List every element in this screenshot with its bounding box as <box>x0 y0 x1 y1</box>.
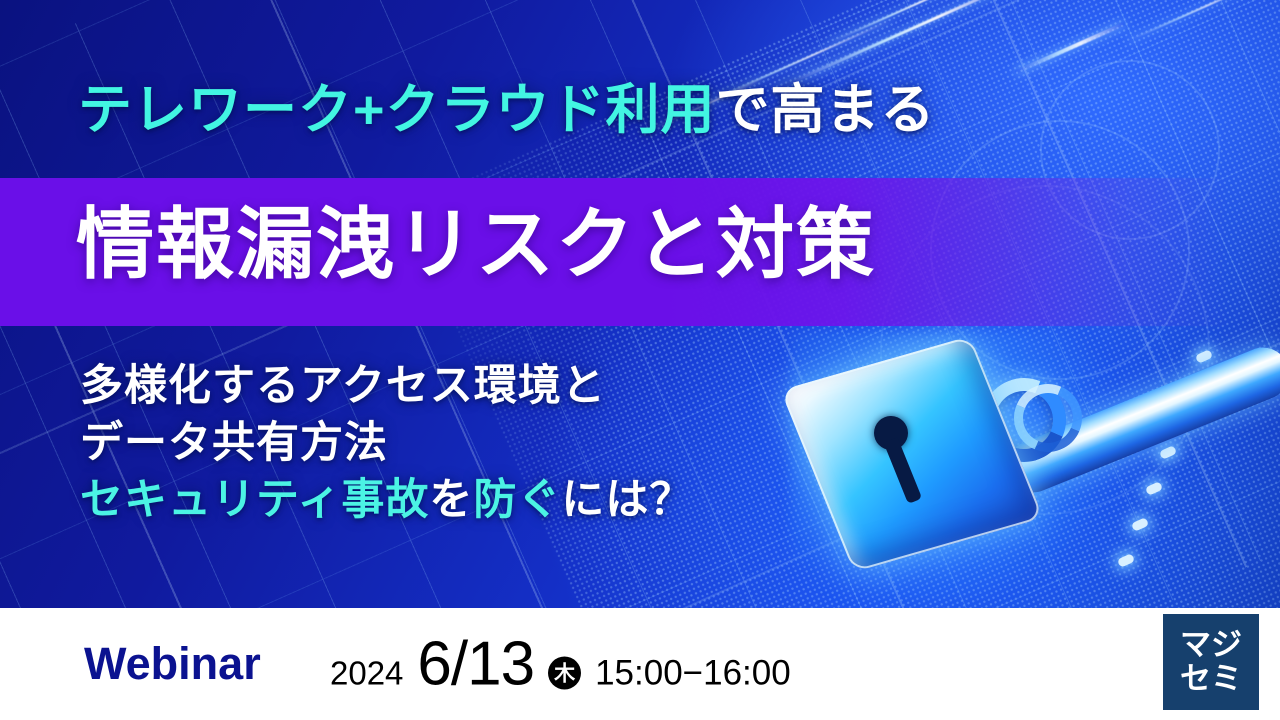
footer-bar: Webinar 2024 6/13 木 15:00−16:00 <box>0 608 1280 720</box>
hero-section: テレワーク+クラウド利用で高まる 情報漏洩リスクと対策 多様化するアクセス環境と… <box>0 0 1280 608</box>
subtitle-line-3-cyan-1: セキュリティ事故 <box>80 476 429 524</box>
subtitle-line-1-text: 多様化するアクセス環境と <box>80 362 606 410</box>
event-year: 2024 <box>330 655 403 693</box>
subtitle-block: 多様化するアクセス環境と データ共有方法 セキュリティ事故を防ぐには？ <box>80 358 693 528</box>
headline-white-text: で高まる <box>716 80 936 140</box>
footer-content-row: Webinar 2024 6/13 木 15:00−16:00 <box>0 608 1280 720</box>
headline-cyan-text: テレワーク+クラウド利用 <box>78 80 716 140</box>
subtitle-line-1: 多様化するアクセス環境と <box>80 358 693 415</box>
subtitle-line-3-white-2: には？ <box>561 476 693 524</box>
padlock-illustration <box>770 320 1280 608</box>
subtitle-line-3: セキュリティ事故を防ぐには？ <box>80 472 693 529</box>
logo-line-1: マジ <box>1180 629 1242 662</box>
event-datetime: 2024 6/13 木 15:00−16:00 <box>330 629 791 700</box>
webinar-label: Webinar <box>84 638 261 690</box>
logo-line-2: セミ <box>1180 663 1242 696</box>
subtitle-line-2-text: データ共有方法 <box>80 419 388 467</box>
main-title: 情報漏洩リスクと対策 <box>76 205 876 283</box>
subtitle-line-3-cyan-2: 防ぐ <box>473 476 561 524</box>
subtitle-line-2: データ共有方法 <box>80 415 693 472</box>
event-date: 6/13 <box>417 629 534 700</box>
webinar-banner: テレワーク+クラウド利用で高まる 情報漏洩リスクと対策 多様化するアクセス環境と… <box>0 0 1280 720</box>
event-day-of-week: 木 <box>548 656 581 689</box>
majisemi-logo[interactable]: マジ セミ <box>1163 614 1259 710</box>
headline: テレワーク+クラウド利用で高まる <box>78 83 936 137</box>
subtitle-line-3-white-1: を <box>429 476 473 524</box>
event-time: 15:00−16:00 <box>595 654 791 694</box>
